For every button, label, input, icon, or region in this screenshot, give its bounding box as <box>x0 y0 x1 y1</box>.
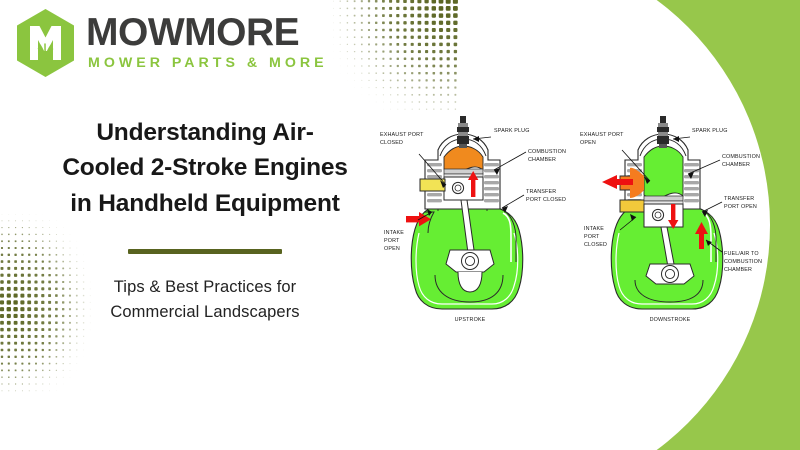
subtitle-line-1: Tips & Best Practices for <box>46 275 364 301</box>
diagram-caption-downstroke: DOWNSTROKE <box>650 317 691 323</box>
label-exhaust-port-line2: CLOSED <box>380 140 403 146</box>
logo-hexagon-icon <box>14 8 77 78</box>
label-intake-line3: CLOSED <box>584 242 607 248</box>
title-divider <box>128 249 282 254</box>
label-combustion-line1: COMBUSTION <box>722 154 760 160</box>
engine-diagram-upstroke: EXHAUST PORT CLOSED SPARK PLUG COMBUSTIO… <box>372 112 588 326</box>
label-transfer-line2: PORT CLOSED <box>526 197 566 203</box>
label-combustion-line2: CHAMBER <box>528 157 556 163</box>
label-fuelair-line3: CHAMBER <box>724 267 752 273</box>
label-spark-plug: SPARK PLUG <box>494 128 530 134</box>
subtitle-line-2: Commercial Landscapers <box>46 300 364 326</box>
engine-diagram-downstroke: EXHAUST PORT OPEN SPARK PLUG COMBUSTION … <box>572 112 796 326</box>
label-transfer-line2: PORT OPEN <box>724 204 757 210</box>
logo-wordmark: MOWMORE MOWER PARTS & MORE <box>86 14 328 73</box>
headline-block: Understanding Air- Cooled 2-Stroke Engin… <box>46 115 364 326</box>
title-line-1: Understanding Air- <box>46 115 364 150</box>
label-intake-line3: OPEN <box>384 246 400 252</box>
logo-brand-name: MOWMORE <box>86 14 328 52</box>
label-intake-line2: PORT <box>384 238 400 244</box>
label-fuelair-line1: FUEL/AIR TO <box>724 251 759 257</box>
label-exhaust-port-line1: EXHAUST PORT <box>380 132 424 138</box>
label-intake-line2: PORT <box>584 234 600 240</box>
label-exhaust-port-line2: OPEN <box>580 140 596 146</box>
label-intake-line1: INTAKE <box>584 226 604 232</box>
label-fuelair-line2: COMBUSTION <box>724 259 762 265</box>
logo-tagline: MOWER PARTS & MORE <box>88 55 328 73</box>
label-exhaust-port-line1: EXHAUST PORT <box>580 132 624 138</box>
diagram-caption-upstroke: UPSTROKE <box>455 317 486 323</box>
brand-logo[interactable]: MOWMORE MOWER PARTS & MORE <box>14 8 328 78</box>
label-transfer-line1: TRANSFER <box>724 196 754 202</box>
label-combustion-line1: COMBUSTION <box>528 149 566 155</box>
title-line-2: Cooled 2-Stroke Engines <box>46 150 364 185</box>
label-combustion-line2: CHAMBER <box>722 162 750 168</box>
title-line-3: in Handheld Equipment <box>46 186 364 221</box>
page-title: Understanding Air- Cooled 2-Stroke Engin… <box>46 115 364 221</box>
page-subtitle: Tips & Best Practices for Commercial Lan… <box>46 275 364 326</box>
spark-plug-icon <box>657 116 669 148</box>
label-transfer-line1: TRANSFER <box>526 189 556 195</box>
label-spark-plug: SPARK PLUG <box>692 128 728 134</box>
slide-canvas: MOWMORE MOWER PARTS & MORE Understanding… <box>0 0 800 450</box>
label-intake-line1: INTAKE <box>384 230 404 236</box>
